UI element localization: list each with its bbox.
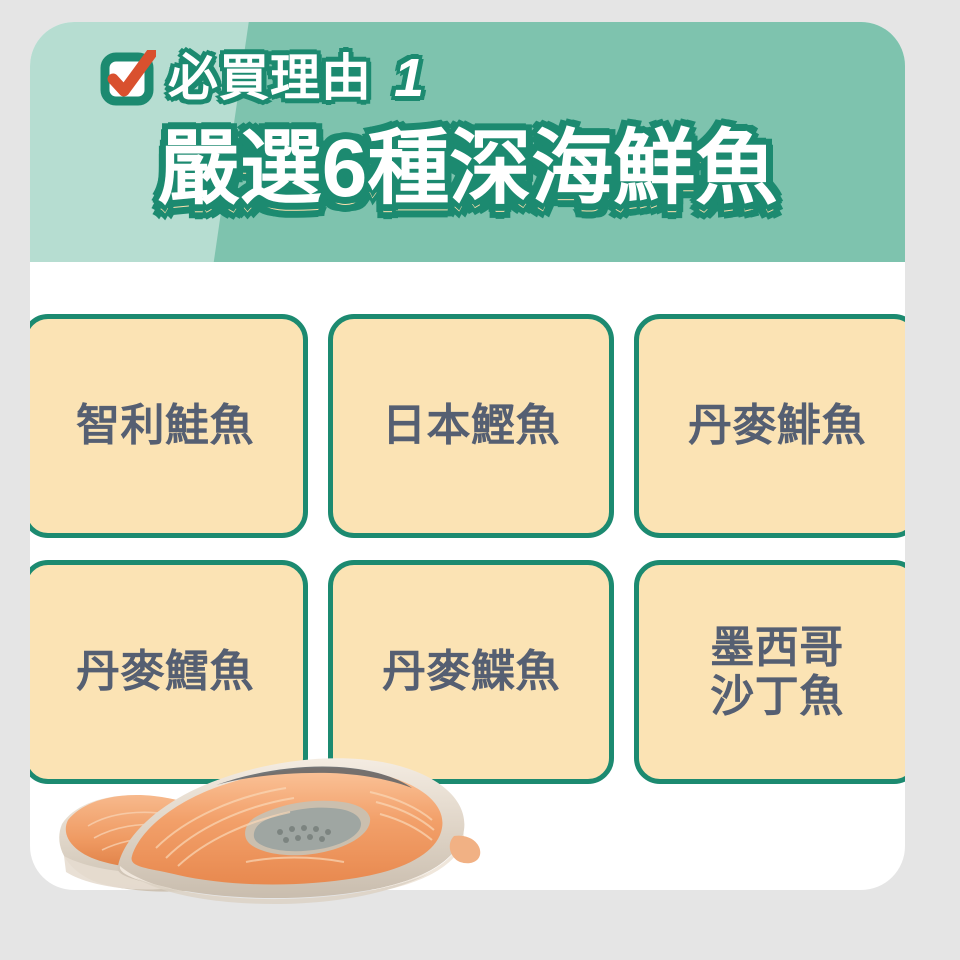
fish-card-label: 丹麥鰈魚 — [382, 647, 560, 696]
fish-card[interactable]: 丹麥鯡魚 — [634, 314, 905, 538]
fish-card[interactable]: 日本鰹魚 — [328, 314, 614, 538]
page-title-text: 嚴選6種深海鮮魚 — [158, 126, 778, 212]
headline-wrapper: 嚴選6種深海鮮魚 嚴選6種深海鮮魚 — [30, 126, 905, 236]
fish-card-grid: 智利鮭魚 日本鰹魚 丹麥鯡魚 丹麥鱈魚 丹麥鰈魚 墨西哥 沙丁魚 — [30, 314, 905, 784]
fish-card[interactable]: 智利鮭魚 — [30, 314, 308, 538]
page-title: 嚴選6種深海鮮魚 嚴選6種深海鮮魚 — [158, 126, 778, 212]
reason-badge-number: 1 — [394, 51, 424, 105]
reason-badge: 必買理由 1 — [100, 50, 424, 106]
main-panel: 必買理由 1 嚴選6種深海鮮魚 嚴選6種深海鮮魚 智利鮭魚 日本鰹魚 丹麥鯡魚 … — [30, 22, 905, 890]
reason-badge-label: 必買理由 — [168, 53, 372, 103]
fish-card-label: 丹麥鯡魚 — [688, 401, 866, 450]
fish-card[interactable]: 丹麥鰈魚 — [328, 560, 614, 784]
fish-card[interactable]: 墨西哥 沙丁魚 — [634, 560, 905, 784]
checkbox-checked-icon — [100, 50, 156, 106]
fish-card-label: 丹麥鱈魚 — [76, 647, 254, 696]
fish-card-label: 墨西哥 沙丁魚 — [710, 623, 844, 722]
fish-card-label: 日本鰹魚 — [382, 401, 560, 450]
fish-card[interactable]: 丹麥鱈魚 — [30, 560, 308, 784]
fish-card-label: 智利鮭魚 — [76, 401, 254, 450]
